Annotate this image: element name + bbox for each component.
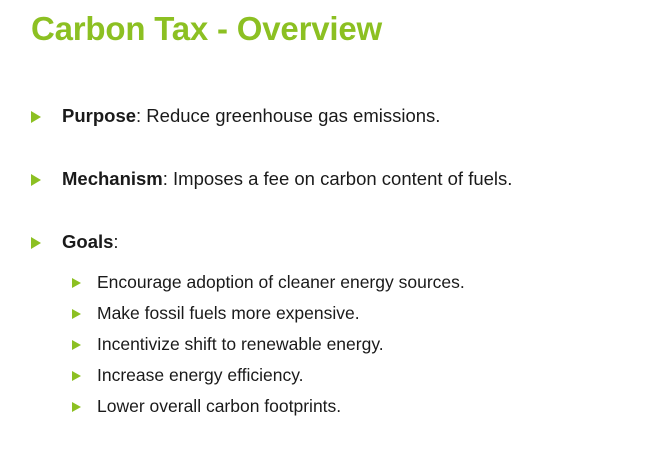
sub-list-item: Lower overall carbon footprints. [0,393,670,419]
list-item-lead: Goals [62,231,113,252]
triangle-right-icon [31,105,62,129]
list-item-rest: : [113,231,118,252]
list-item-rest: : Reduce greenhouse gas emissions. [136,105,440,126]
sub-list-item: Incentivize shift to renewable energy. [0,331,670,357]
triangle-right-icon [72,362,97,388]
list-item-text: Purpose: Reduce greenhouse gas emissions… [62,104,670,128]
triangle-right-icon [72,331,97,357]
slide-canvas: Carbon Tax - Overview Purpose: Reduce gr… [0,0,670,472]
list-item-lead: Mechanism [62,168,163,189]
list-item-text: Mechanism: Imposes a fee on carbon conte… [62,167,670,191]
triangle-right-icon [72,269,97,295]
triangle-right-icon [31,231,62,255]
list-item-lead: Purpose [62,105,136,126]
list-item: Purpose: Reduce greenhouse gas emissions… [0,104,670,135]
list-item: Mechanism: Imposes a fee on carbon conte… [0,167,670,198]
list-item-text: Goals: [62,230,670,254]
bullet-list: Purpose: Reduce greenhouse gas emissions… [0,104,670,419]
sub-list-item-text: Increase energy efficiency. [97,362,670,388]
list-item-rest: : Imposes a fee on carbon content of fue… [163,168,513,189]
triangle-right-icon [72,393,97,419]
sub-list-item-text: Make fossil fuels more expensive. [97,300,670,326]
sub-list-item: Increase energy efficiency. [0,362,670,388]
sub-list-item-text: Incentivize shift to renewable energy. [97,331,670,357]
sub-bullet-list: Encourage adoption of cleaner energy sou… [0,269,670,419]
sub-list-item-text: Lower overall carbon footprints. [97,393,670,419]
triangle-right-icon [31,168,62,192]
sub-list-item: Make fossil fuels more expensive. [0,300,670,326]
page-title: Carbon Tax - Overview [31,9,382,49]
sub-list-item: Encourage adoption of cleaner energy sou… [0,269,670,295]
list-item: Goals: [0,230,670,261]
triangle-right-icon [72,300,97,326]
sub-list-item-text: Encourage adoption of cleaner energy sou… [97,269,670,295]
